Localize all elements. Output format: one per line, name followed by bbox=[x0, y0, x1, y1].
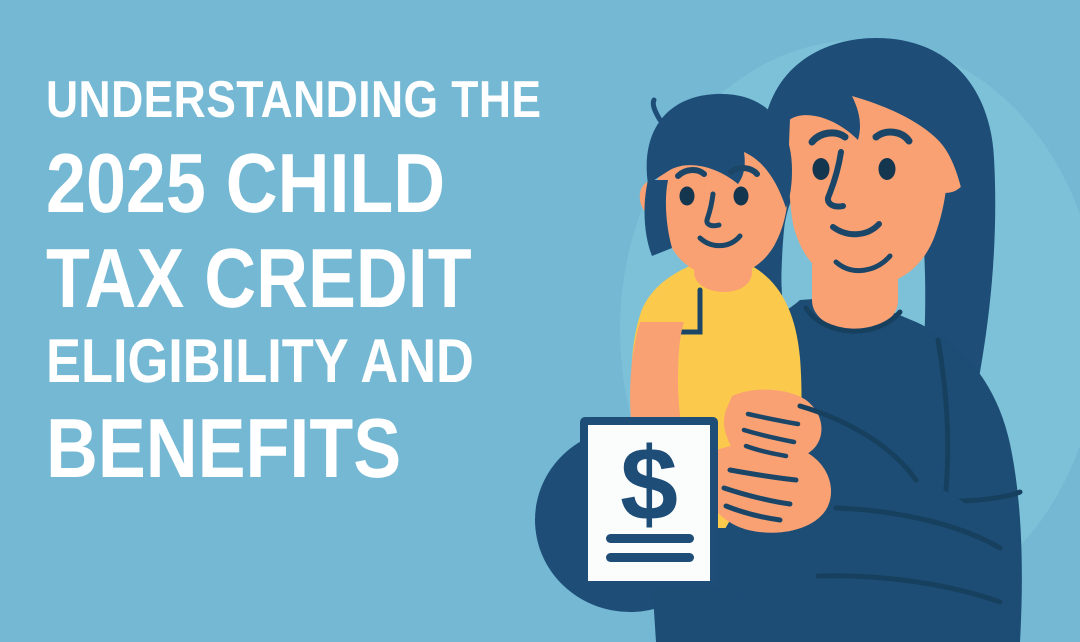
headline-line-1: UNDERSTANDING THE bbox=[46, 74, 542, 126]
headline-line-3: TAX CREDIT bbox=[46, 236, 542, 320]
headline-line-2: 2025 CHILD bbox=[46, 141, 542, 225]
woman-eye-right bbox=[879, 158, 896, 180]
child-eye-left bbox=[680, 187, 695, 206]
woman-eye-left bbox=[813, 158, 830, 180]
headline-line-5: BENEFITS bbox=[46, 406, 542, 490]
poster-canvas: $ UNDERSTANDING THE 2025 CHILD TAX CREDI… bbox=[0, 0, 1080, 642]
child-eye-right bbox=[734, 187, 749, 206]
document-line-1 bbox=[606, 534, 694, 543]
document-line-2 bbox=[606, 553, 694, 562]
headline-line-4: ELIGIBILITY AND bbox=[46, 331, 536, 393]
dollar-sign-glyph: $ bbox=[620, 427, 678, 543]
headline-block: UNDERSTANDING THE 2025 CHILD TAX CREDIT … bbox=[46, 74, 626, 490]
